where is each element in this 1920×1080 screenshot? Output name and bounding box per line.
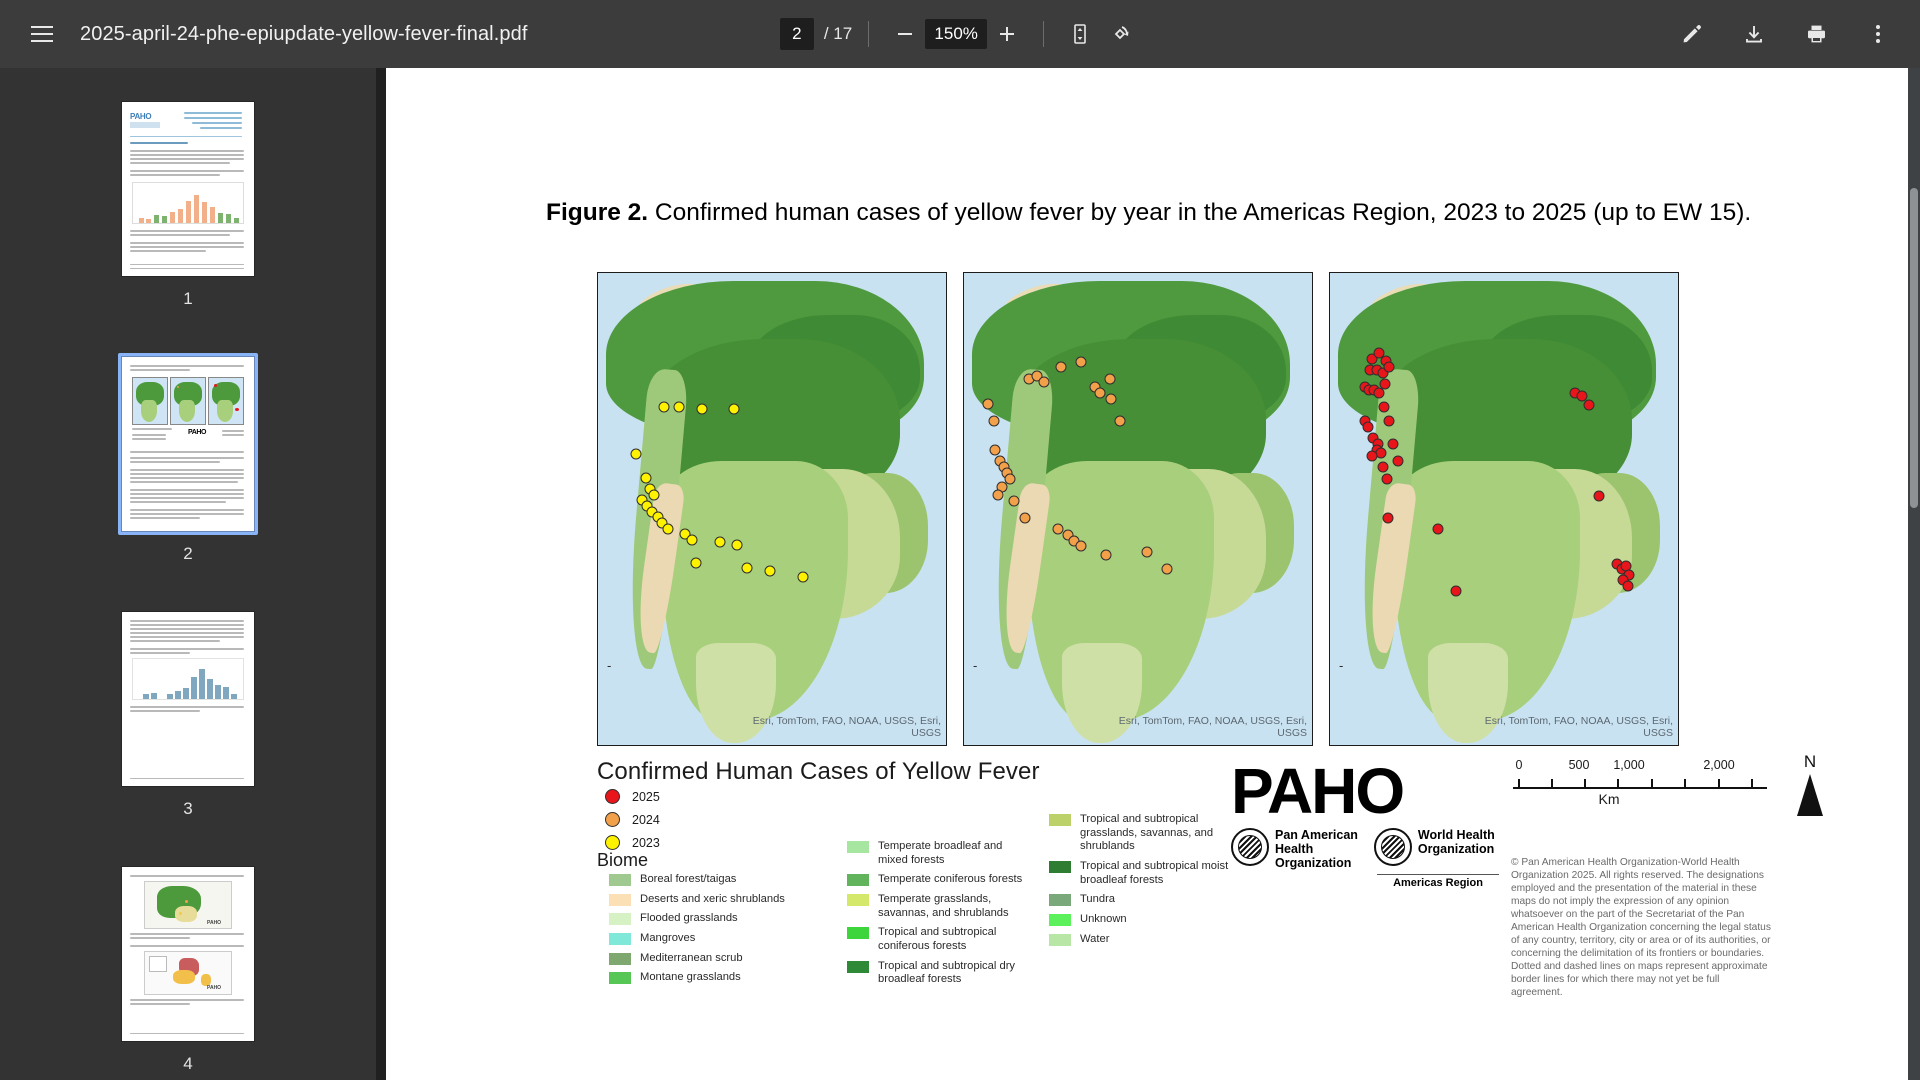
biome-label: Boreal forest/taigas: [640, 873, 736, 887]
biome-swatch: [847, 874, 869, 886]
biome-swatch: [609, 894, 631, 906]
biome-column-1: Boreal forest/taigas Deserts and xeric s…: [609, 873, 819, 991]
pencil-edit-icon[interactable]: [1672, 14, 1712, 54]
biome-row: Temperate coniferous forests: [847, 873, 1042, 887]
thumbnail-sidebar: PAHO: [0, 68, 376, 1080]
biome-row: Tropical and subtropical dry broadleaf f…: [847, 960, 1042, 987]
thumbnail-item[interactable]: 3: [98, 608, 278, 819]
thumbnail-frame-1[interactable]: PAHO: [118, 98, 258, 280]
biome-label: Water: [1080, 933, 1109, 947]
scale-tick-labels: 0 500 1,000 2,000: [1511, 758, 1769, 774]
legend-year-2023: 2023: [605, 835, 660, 850]
scale-tick-2000: 2,000: [1703, 758, 1734, 772]
biome-swatch: [1049, 861, 1071, 873]
scale-unit-label: Km: [1511, 791, 1707, 807]
north-arrow: N: [1793, 752, 1827, 816]
who-logo: World HealthOrganization: [1374, 828, 1495, 866]
biome-swatch: [847, 841, 869, 853]
figure-number: Figure 2.: [546, 199, 648, 226]
case-dots-2025: [1330, 273, 1678, 745]
biome-label: Deserts and xeric shrublands: [640, 893, 785, 907]
biome-label: Temperate broadleaf and mixed forests: [878, 840, 1028, 867]
biome-row: Mediterranean scrub: [609, 952, 819, 966]
north-label: N: [1793, 752, 1827, 772]
thumbnail-preview-4: PAHO PAHO: [122, 867, 254, 1041]
biome-label: Temperate grasslands, savannas, and shru…: [878, 893, 1028, 920]
paho-seal-icon: [1231, 828, 1269, 866]
figure-caption: Figure 2. Confirmed human cases of yello…: [546, 196, 1776, 229]
zoom-in-button[interactable]: [987, 14, 1027, 54]
hamburger-menu-icon[interactable]: [22, 14, 62, 54]
top-toolbar: 2025-april-24-phe-epiupdate-yellow-fever…: [0, 0, 1920, 68]
biome-swatch: [609, 972, 631, 984]
legend-swatch-2025: [605, 789, 620, 804]
thumbnail-list: PAHO: [0, 68, 376, 1080]
biome-swatch: [609, 874, 631, 886]
legend-title: Confirmed Human Cases of Yellow Fever: [597, 758, 1040, 786]
org-logo-row: Pan AmericanHealthOrganization World Hea…: [1231, 828, 1499, 870]
biome-swatch: [1049, 934, 1071, 946]
zoom-level-display[interactable]: 150%: [925, 19, 987, 49]
biome-swatch: [1049, 814, 1071, 826]
viewer-scrollbar[interactable]: [1908, 68, 1920, 1080]
biome-row: Water: [1049, 933, 1249, 947]
toolbar-divider-1: [868, 21, 869, 47]
legend-year-2024: 2024: [605, 812, 660, 827]
map-attribution: Esri, TomTom, FAO, NOAA, USGS, Esri, USG…: [1117, 715, 1307, 739]
biome-label: Temperate coniferous forests: [878, 873, 1022, 887]
scale-tick-500: 500: [1569, 758, 1590, 772]
biome-title: Biome: [597, 850, 648, 871]
rotate-icon[interactable]: [1100, 14, 1140, 54]
biome-row: Tundra: [1049, 893, 1249, 907]
biome-row: Deserts and xeric shrublands: [609, 893, 819, 907]
biome-row: Temperate grasslands, savannas, and shru…: [847, 893, 1042, 920]
biome-row: Montane grasslands: [609, 971, 819, 985]
map-2025: - Esri, TomTom, FAO, NOAA, USGS, Esri, U…: [1329, 272, 1679, 746]
biome-label: Montane grasslands: [640, 971, 741, 985]
map-attribution: Esri, TomTom, FAO, NOAA, USGS, Esri, USG…: [1483, 715, 1673, 739]
biome-label: Flooded grasslands: [640, 912, 738, 926]
map-attribution: Esri, TomTom, FAO, NOAA, USGS, Esri, USG…: [751, 715, 941, 739]
thumbnail-preview-1: PAHO: [122, 102, 254, 276]
figure-caption-text: Confirmed human cases of yellow fever by…: [648, 199, 1751, 226]
biome-swatch: [847, 927, 869, 939]
biome-swatch: [1049, 894, 1071, 906]
biome-label: Tropical and subtropical coniferous fore…: [878, 926, 1028, 953]
thumbnail-label: 3: [183, 799, 192, 819]
more-vertical-icon[interactable]: [1858, 14, 1898, 54]
thumbnail-label: 2: [183, 544, 192, 564]
map-tick-mark: -: [607, 658, 611, 673]
biome-swatch: [847, 894, 869, 906]
biome-label: Mediterranean scrub: [640, 952, 743, 966]
toolbar-left-group: 2025-april-24-phe-epiupdate-yellow-fever…: [0, 14, 527, 54]
biome-row: Boreal forest/taigas: [609, 873, 819, 887]
who-name: World HealthOrganization: [1418, 828, 1495, 856]
biome-label: Unknown: [1080, 913, 1127, 927]
case-dots-2023: [598, 273, 946, 745]
pdf-page-2: Figure 2. Confirmed human cases of yello…: [386, 68, 1920, 1080]
biome-column-3: Tropical and subtropical grasslands, sav…: [1049, 813, 1249, 952]
page-count-label: / 17: [824, 24, 852, 44]
legend-year-2025: 2025: [605, 789, 660, 804]
biome-row: Flooded grasslands: [609, 912, 819, 926]
who-seal-icon: [1374, 828, 1412, 866]
paho-wordmark: PAHO: [1231, 761, 1499, 822]
map-tick-mark: -: [1339, 658, 1343, 673]
print-icon[interactable]: [1796, 14, 1836, 54]
viewer-scrollbar-thumb[interactable]: [1910, 188, 1918, 508]
biome-row: Unknown: [1049, 913, 1249, 927]
legend-label-2025: 2025: [632, 790, 660, 804]
americas-region-label: Americas Region: [1377, 874, 1499, 889]
biome-row: Mangroves: [609, 932, 819, 946]
scale-bar-line: [1511, 777, 1769, 790]
biome-row: Temperate broadleaf and mixed forests: [847, 840, 1042, 867]
thumbnail-item[interactable]: PAHO: [98, 353, 278, 564]
biome-row: Tropical and subtropical coniferous fore…: [847, 926, 1042, 953]
organization-logos: PAHO Pan AmericanHealthOrganization Worl…: [1231, 761, 1499, 889]
biome-label: Tropical and subtropical grasslands, sav…: [1080, 813, 1230, 854]
legend-label-2023: 2023: [632, 836, 660, 850]
fit-to-page-icon[interactable]: [1060, 14, 1100, 54]
paho-name: Pan AmericanHealthOrganization: [1275, 828, 1358, 870]
scale-tick-0: 0: [1516, 758, 1523, 772]
thumbnail-item[interactable]: PAHO: [98, 98, 278, 309]
biome-column-2: Temperate broadleaf and mixed forests Te…: [847, 840, 1042, 993]
biome-swatch: [609, 933, 631, 945]
biome-label: Tropical and subtropical dry broadleaf f…: [878, 960, 1028, 987]
biome-row: Tropical and subtropical grasslands, sav…: [1049, 813, 1249, 854]
case-dots-2024: [964, 273, 1312, 745]
biome-swatch: [847, 961, 869, 973]
biome-label: Tropical and subtropical moist broadleaf…: [1080, 860, 1230, 887]
map-2023: - Esri, TomTom, FAO, NOAA, USGS, Esri, U…: [597, 272, 947, 746]
zoom-out-button[interactable]: [885, 14, 925, 54]
toolbar-divider-2: [1043, 21, 1044, 47]
paho-logo: Pan AmericanHealthOrganization: [1231, 828, 1358, 870]
biome-swatch: [609, 953, 631, 965]
biome-swatch: [1049, 914, 1071, 926]
biome-label: Mangroves: [640, 932, 695, 946]
legend-swatch-2023: [605, 835, 620, 850]
thumbnail-label: 4: [183, 1054, 192, 1074]
thumbnail-item[interactable]: PAHO PAHO 4: [98, 863, 278, 1074]
biome-row: Tropical and subtropical moist broadleaf…: [1049, 860, 1249, 887]
thumbnail-frame-4[interactable]: PAHO PAHO: [118, 863, 258, 1045]
thumbnail-frame-3[interactable]: [118, 608, 258, 790]
map-tick-mark: -: [973, 658, 977, 673]
north-arrow-icon: [1797, 774, 1823, 816]
pdf-viewer: Figure 2. Confirmed human cases of yello…: [386, 68, 1920, 1080]
scale-bar-block: 0 500 1,000 2,000 Km N: [1511, 758, 1769, 807]
thumbnail-preview-3: [122, 612, 254, 786]
biome-swatch: [609, 913, 631, 925]
legend-label-2024: 2024: [632, 813, 660, 827]
map-2024: - Esri, TomTom, FAO, NOAA, USGS, Esri, U…: [963, 272, 1313, 746]
document-title: 2025-april-24-phe-epiupdate-yellow-fever…: [80, 23, 527, 46]
page-number-input[interactable]: [780, 18, 814, 50]
legend-swatch-2024: [605, 812, 620, 827]
copyright-disclaimer: © Pan American Health Organization-World…: [1511, 856, 1773, 1000]
sidebar-divider: [376, 68, 386, 1080]
download-icon[interactable]: [1734, 14, 1774, 54]
scale-tick-1000: 1,000: [1613, 758, 1644, 772]
biome-label: Tundra: [1080, 893, 1115, 907]
thumbnail-label: 1: [183, 289, 192, 309]
thumbnail-frame-2[interactable]: PAHO: [118, 353, 258, 535]
thumbnail-preview-2: PAHO: [122, 357, 254, 531]
toolbar-right-group: [1672, 14, 1920, 54]
